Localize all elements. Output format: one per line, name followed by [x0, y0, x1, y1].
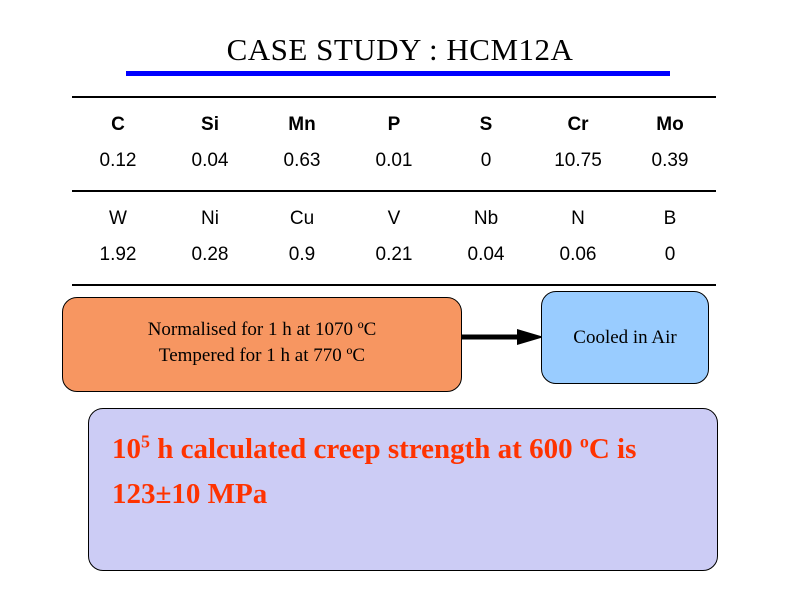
column-header-si: Si: [164, 98, 256, 134]
table-row: 1.92 0.28 0.9 0.21 0.04 0.06 0: [72, 228, 716, 284]
value-cu: 0.9: [256, 228, 348, 284]
value-mo: 0.39: [624, 134, 716, 190]
heat-treatment-line-1: Normalised for 1 h at 1070 ºC: [148, 319, 377, 340]
column-header-v: V: [348, 192, 440, 228]
composition-block-1: C Si Mn P S Cr Mo 0.12 0.04 0.63 0.01 0 …: [72, 98, 716, 190]
table-row: 0.12 0.04 0.63 0.01 0 10.75 0.39: [72, 134, 716, 190]
value-b: 0: [624, 228, 716, 284]
value-n: 0.06: [532, 228, 624, 284]
cooling-label: Cooled in Air: [573, 327, 676, 349]
column-header-w: W: [72, 192, 164, 228]
table-header-row: C Si Mn P S Cr Mo: [72, 98, 716, 134]
result-degree-superscript: o: [580, 431, 589, 451]
column-header-ni: Ni: [164, 192, 256, 228]
composition-table: C Si Mn P S Cr Mo 0.12 0.04 0.63 0.01 0 …: [72, 96, 716, 286]
value-ni: 0.28: [164, 228, 256, 284]
column-header-mn: Mn: [256, 98, 348, 134]
value-nb: 0.04: [440, 228, 532, 284]
value-si: 0.04: [164, 134, 256, 190]
result-box: 105 h calculated creep strength at 600 o…: [88, 408, 718, 571]
value-v: 0.21: [348, 228, 440, 284]
value-c: 0.12: [72, 134, 164, 190]
column-header-cr: Cr: [532, 98, 624, 134]
heat-treatment-line-2: Tempered for 1 h at 770 ºC: [159, 345, 365, 366]
heat-treatment-label: Normalised for 1 h at 1070 ºC Tempered f…: [148, 317, 377, 372]
column-header-b: B: [624, 192, 716, 228]
value-s: 0: [440, 134, 532, 190]
table-bottom-rule: [72, 284, 716, 286]
heat-treatment-box: Normalised for 1 h at 1070 ºC Tempered f…: [62, 297, 462, 392]
result-exponent: 5: [141, 431, 150, 451]
column-header-mo: Mo: [624, 98, 716, 134]
cooling-box: Cooled in Air: [541, 291, 709, 384]
value-cr: 10.75: [532, 134, 624, 190]
title-underline-rule: [126, 71, 670, 76]
composition-block-2: W Ni Cu V Nb N B 1.92 0.28 0.9 0.21 0.04…: [72, 192, 716, 284]
value-p: 0.01: [348, 134, 440, 190]
value-w: 1.92: [72, 228, 164, 284]
column-header-n: N: [532, 192, 624, 228]
creep-strength-statement: 105 h calculated creep strength at 600 o…: [112, 427, 706, 517]
result-line-1-rest: h calculated creep strength at 600: [150, 433, 573, 465]
result-base: 10: [112, 433, 141, 465]
column-header-s: S: [440, 98, 532, 134]
value-mn: 0.63: [256, 134, 348, 190]
column-header-cu: Cu: [256, 192, 348, 228]
table-header-row: W Ni Cu V Nb N B: [72, 192, 716, 228]
column-header-nb: Nb: [440, 192, 532, 228]
column-header-p: P: [348, 98, 440, 134]
page-title: CASE STUDY : HCM12A: [0, 32, 800, 68]
arrow-right-icon: [462, 325, 544, 349]
column-header-c: C: [72, 98, 164, 134]
